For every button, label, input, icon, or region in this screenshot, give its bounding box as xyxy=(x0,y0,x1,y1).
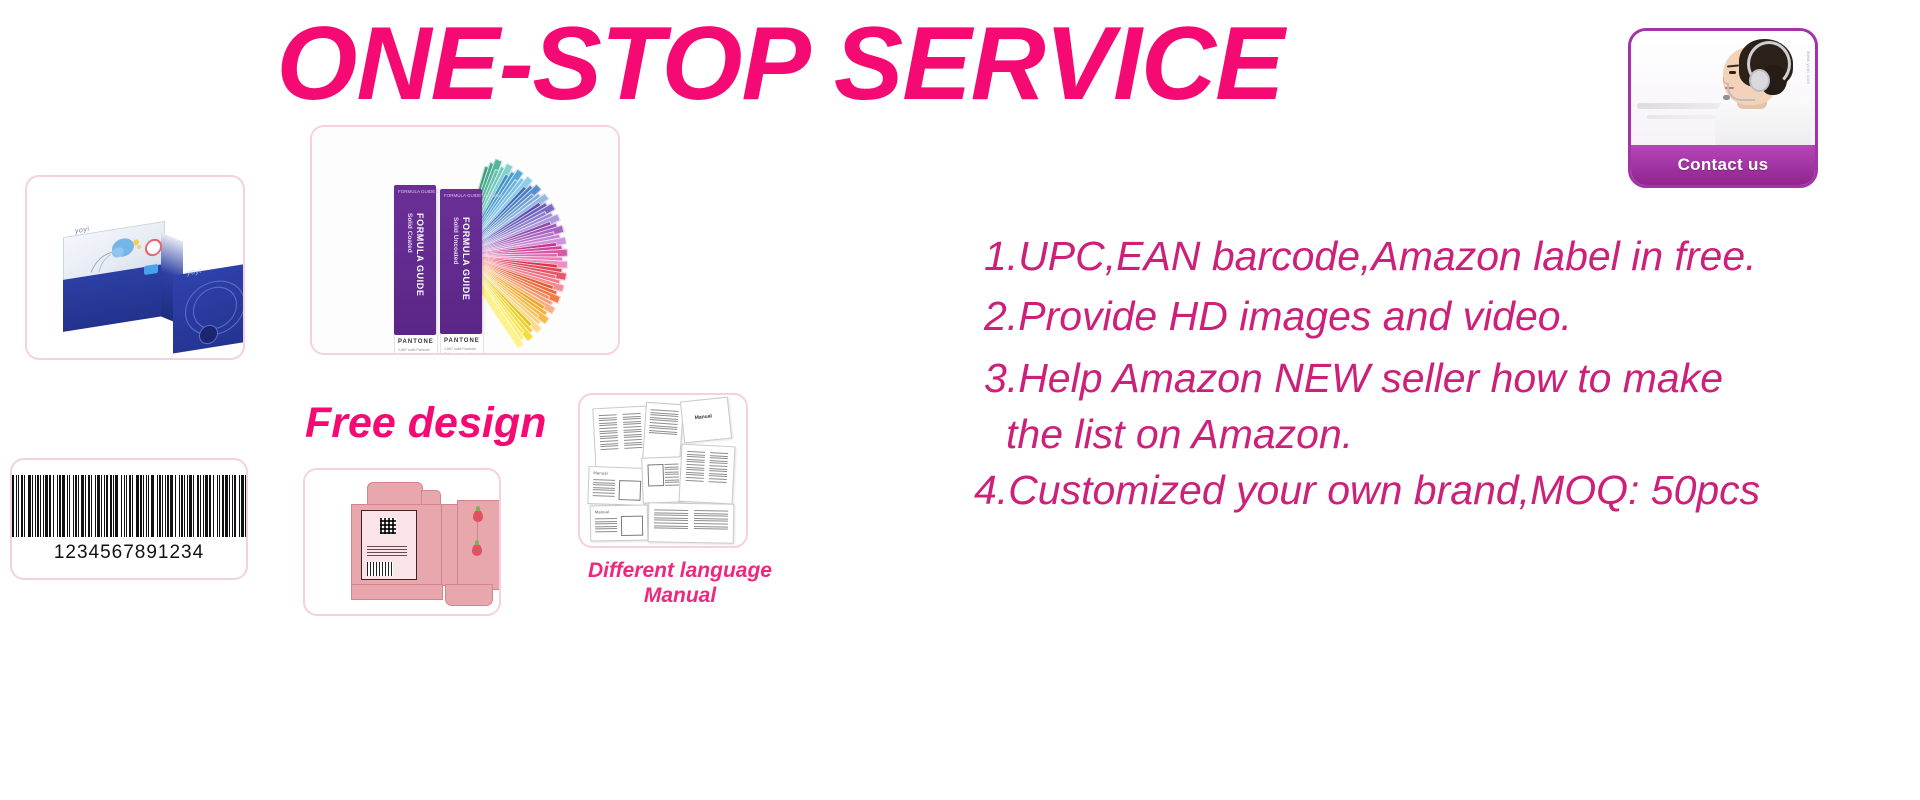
page-title: ONE-STOP SERVICE xyxy=(0,8,1560,120)
pantone-fineprint-1: 1,867 solid Pantone Colors on coated pap… xyxy=(398,348,432,355)
manual-caption: Different language Manual xyxy=(570,558,790,608)
feature-item-1: 1.UPC,EAN barcode,Amazon label in free. xyxy=(984,228,1910,284)
pantone-stage: FORMULA GUIDE Coated FORMULA GUIDE Solid… xyxy=(312,127,618,353)
manual-sheet-7 xyxy=(648,502,735,543)
manual-col-a3 xyxy=(593,479,616,498)
feature-list: 1.UPC,EAN barcode,Amazon label in free. … xyxy=(960,228,1910,518)
pantone-guide2-topnote: FORMULA GUIDE Uncoated xyxy=(444,193,502,199)
manual-col-a2 xyxy=(649,409,679,437)
barcode-wrapper: 1234567891234 xyxy=(12,460,246,578)
dieline-bottom-tab xyxy=(351,584,443,600)
pantone-fineprint-2: 1,867 solid Pantone Colors on uncoated p… xyxy=(444,347,478,355)
dieline-qr-code-icon xyxy=(380,518,396,534)
feature-item-3-cont: the list on Amazon. xyxy=(1006,406,1910,462)
contact-us-button[interactable]: Contact us xyxy=(1631,145,1815,185)
pantone-guide2-title: FORMULA GUIDE xyxy=(461,217,471,300)
feature-item-2: 2.Provide HD images and video. xyxy=(984,288,1910,344)
pantone-brand-2: PANTONE xyxy=(444,338,480,344)
manual-diagram-2 xyxy=(647,464,664,487)
manual-col-a5 xyxy=(686,451,706,483)
pantone-guide2-subtitle: Solid Uncoated xyxy=(452,217,459,264)
barcode-bars xyxy=(11,475,248,537)
dieline-top-flap xyxy=(367,482,423,506)
manual-col-a7 xyxy=(654,509,688,530)
manual-caption-line1: Different language xyxy=(570,558,790,583)
manual-side-title-2: Manual xyxy=(595,509,609,514)
manual-caption-line2: Manual xyxy=(570,583,790,608)
manual-col-a4 xyxy=(664,463,679,487)
dieline-berry-icon-top xyxy=(473,510,483,522)
manual-diagram-1 xyxy=(619,480,642,501)
pantone-fan-deck-photo: FORMULA GUIDE Coated FORMULA GUIDE Solid… xyxy=(310,125,620,355)
manual-col-b1 xyxy=(623,413,643,450)
pantone-guide1-title: FORMULA GUIDE xyxy=(415,213,425,296)
manual-col-b5 xyxy=(709,452,729,484)
barcode-number: 1234567891234 xyxy=(54,542,204,564)
pantone-guide1-subtitle: Solid Coated xyxy=(406,213,413,253)
manual-cover: Manual xyxy=(680,397,732,444)
feature-item-3: 3.Help Amazon NEW seller how to make xyxy=(984,350,1910,406)
manual-sheet-6: Manual xyxy=(590,504,649,541)
agent-photo: www.yoyi.com xyxy=(1631,31,1815,149)
free-design-caption: Free design xyxy=(305,400,545,446)
agent-eye xyxy=(1729,71,1736,74)
carton-dieline-photo xyxy=(303,468,501,616)
manual-col-a6 xyxy=(595,518,617,534)
manual-sheet-5 xyxy=(679,444,736,505)
manual-diagram-3 xyxy=(621,516,643,536)
dieline-canvas xyxy=(305,470,499,614)
manual-sheet-2 xyxy=(642,402,684,465)
dieline-text-block xyxy=(367,546,407,558)
feature-item-4: 4.Customized your own brand,MOQ: 50pcs xyxy=(974,462,1910,518)
manual-sheet-3: Manual xyxy=(587,466,646,506)
dieline-bottom-flap xyxy=(445,584,493,606)
manual-col-b7 xyxy=(694,510,728,531)
gift-box-photo: yoyi yoyi xyxy=(25,175,245,360)
manual-cover-title: Manual xyxy=(694,413,712,421)
manual-side-title-1: Manual xyxy=(593,470,607,475)
contact-us-label: Contact us xyxy=(1678,155,1769,175)
dieline-barcode-icon xyxy=(367,562,393,576)
pantone-brand-1: PANTONE xyxy=(398,339,434,345)
watermark-text: www.yoyi.com xyxy=(1806,51,1811,84)
manual-sheets-photo: Manual Manual Manual xyxy=(578,393,748,548)
barcode-label-photo: 1234567891234 xyxy=(10,458,248,580)
headset-mic-icon xyxy=(1723,95,1730,100)
promo-banner: ONE-STOP SERVICE yoyi yoyi 12 xyxy=(0,0,1920,800)
dieline-berry-icon-bottom xyxy=(472,544,482,556)
contact-us-card[interactable]: www.yoyi.com Contact us xyxy=(1628,28,1818,188)
manual-col-a1 xyxy=(599,414,619,451)
box-base-side xyxy=(243,273,245,353)
